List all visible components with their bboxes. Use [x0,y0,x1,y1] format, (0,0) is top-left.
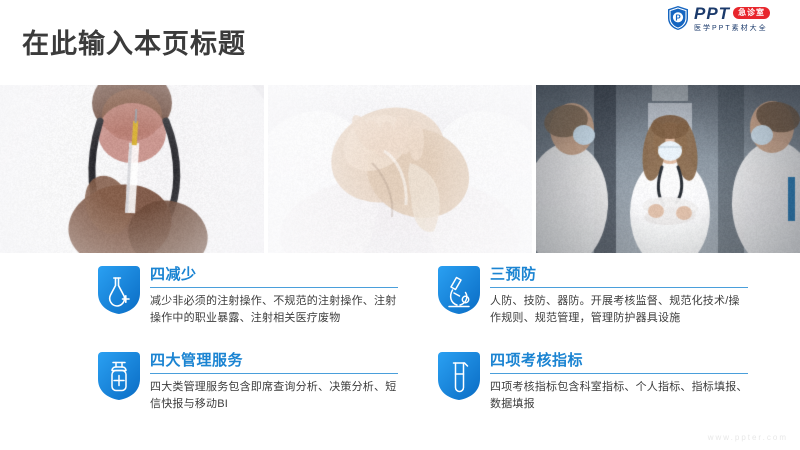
page-title: 在此输入本页标题 [22,22,246,61]
flask-icon [98,266,140,314]
slide-header: 在此输入本页标题 P PPT 急诊室 医学PPT素材大全 [0,0,800,78]
logo-badge: 急诊室 [733,7,770,19]
feature-body-4: 四项考核指标 四项考核指标包含科室指标、个人指标、指标填报、数据填报 [490,352,748,413]
photo-strip [0,85,800,253]
photo-medical-staff-corridor [536,85,800,253]
feature-desc-3: 四大类管理服务包含即席查询分析、决策分析、短信快报与移动BI [150,379,398,413]
feature-divider-3 [150,373,398,374]
logo-subtitle: 医学PPT素材大全 [694,25,770,32]
medicine-bottle-icon [98,352,140,400]
feature-body-1: 四减少 减少非必须的注射操作、不规范的注射操作、注射操作中的职业暴露、注射相关医… [150,266,398,327]
brand-logo: P PPT 急诊室 医学PPT素材大全 [666,3,794,33]
feature-title-4: 四项考核指标 [490,353,748,370]
feature-item-3[interactable]: 四大管理服务 四大类管理服务包含即席查询分析、决策分析、短信快报与移动BI [98,352,398,413]
logo-brand-text: PPT [694,5,730,22]
feature-list: 四减少 减少非必须的注射操作、不规范的注射操作、注射操作中的职业暴露、注射相关医… [0,258,800,428]
test-tube-icon [438,352,480,400]
photo-doctor-holding-syringe [0,85,264,253]
shield-logo-icon: P [666,5,690,31]
feature-item-4[interactable]: 四项考核指标 四项考核指标包含科室指标、个人指标、指标填报、数据填报 [438,352,748,413]
feature-desc-1: 减少非必须的注射操作、不规范的注射操作、注射操作中的职业暴露、注射相关医疗废物 [150,293,398,327]
feature-desc-2: 人防、技防、器防。开展考核监督、规范化技术/操作规则、规范管理，管理防护器具设施 [490,293,748,327]
feature-title-1: 四减少 [150,267,398,284]
site-watermark: www.ppter.com [708,433,788,442]
feature-divider-1 [150,287,398,288]
photo-gloved-hands [268,85,532,253]
feature-body-2: 三预防 人防、技防、器防。开展考核监督、规范化技术/操作规则、规范管理，管理防护… [490,266,748,327]
microscope-icon [438,266,480,314]
feature-desc-4: 四项考核指标包含科室指标、个人指标、指标填报、数据填报 [490,379,748,413]
svg-text:P: P [675,14,681,23]
feature-item-1[interactable]: 四减少 减少非必须的注射操作、不规范的注射操作、注射操作中的职业暴露、注射相关医… [98,266,398,327]
logo-text-group: PPT 急诊室 医学PPT素材大全 [694,5,770,32]
feature-title-2: 三预防 [490,267,748,284]
feature-title-3: 四大管理服务 [150,353,398,370]
feature-divider-4 [490,373,748,374]
feature-item-2[interactable]: 三预防 人防、技防、器防。开展考核监督、规范化技术/操作规则、规范管理，管理防护… [438,266,748,327]
feature-body-3: 四大管理服务 四大类管理服务包含即席查询分析、决策分析、短信快报与移动BI [150,352,398,413]
feature-divider-2 [490,287,748,288]
